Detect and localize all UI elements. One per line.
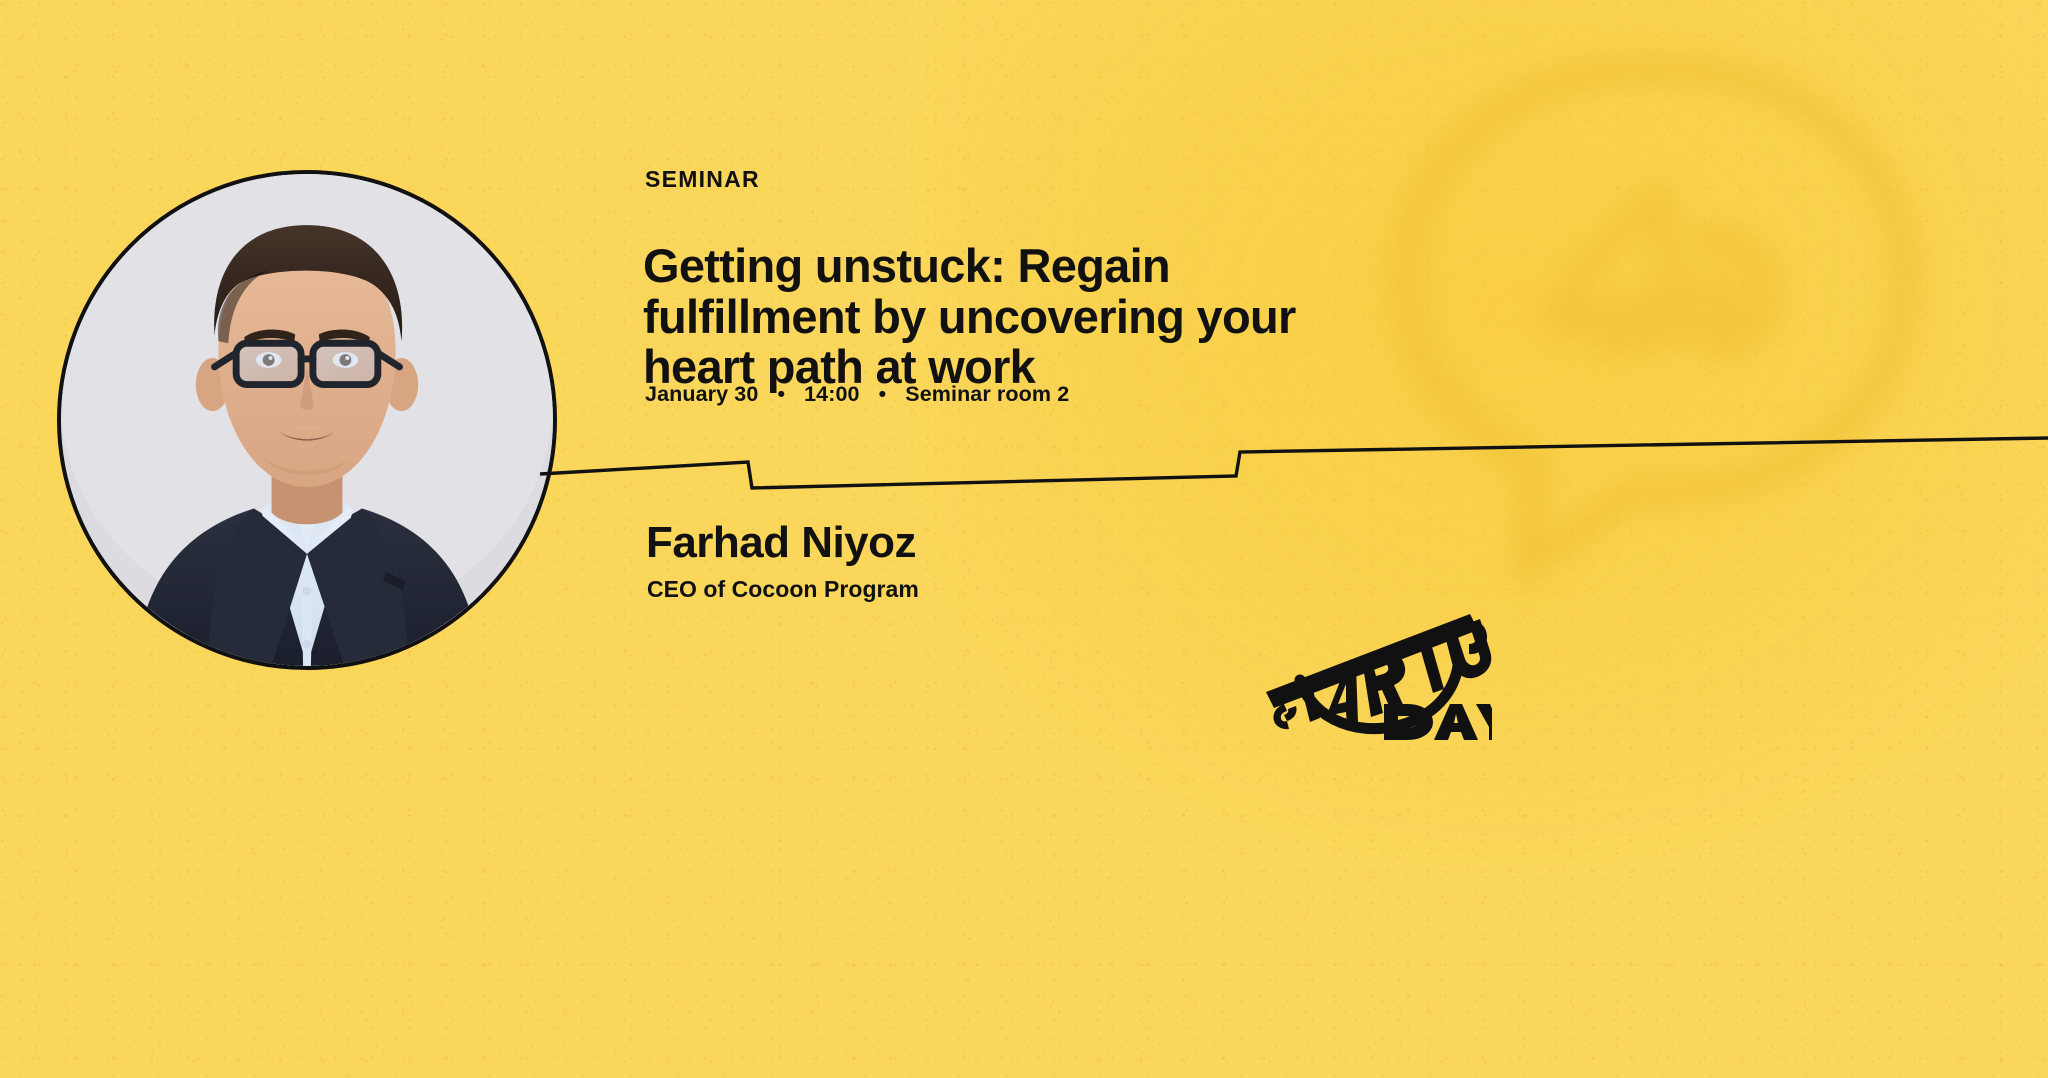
event-time: 14:00 bbox=[804, 382, 860, 407]
speaker-name: Farhad Niyoz bbox=[646, 521, 916, 565]
startup-day-logo bbox=[1262, 600, 1492, 740]
page-title: Getting unstuck: Regain fulfillment by u… bbox=[643, 241, 1363, 392]
meta-separator-1: • bbox=[777, 384, 785, 406]
background-glow bbox=[968, 0, 2048, 860]
seminar-promo-banner: SEMINAR Getting unstuck: Regain fulfillm… bbox=[0, 0, 2048, 1078]
event-date: January 30 bbox=[645, 382, 758, 407]
speaker-photo bbox=[57, 170, 557, 670]
eyebrow-label: SEMINAR bbox=[645, 168, 760, 191]
event-location: Seminar room 2 bbox=[905, 382, 1069, 407]
event-meta: January 30 • 14:00 • Seminar room 2 bbox=[645, 382, 1069, 407]
meta-separator-2: • bbox=[879, 384, 887, 406]
speaker-role: CEO of Cocoon Program bbox=[647, 578, 919, 601]
